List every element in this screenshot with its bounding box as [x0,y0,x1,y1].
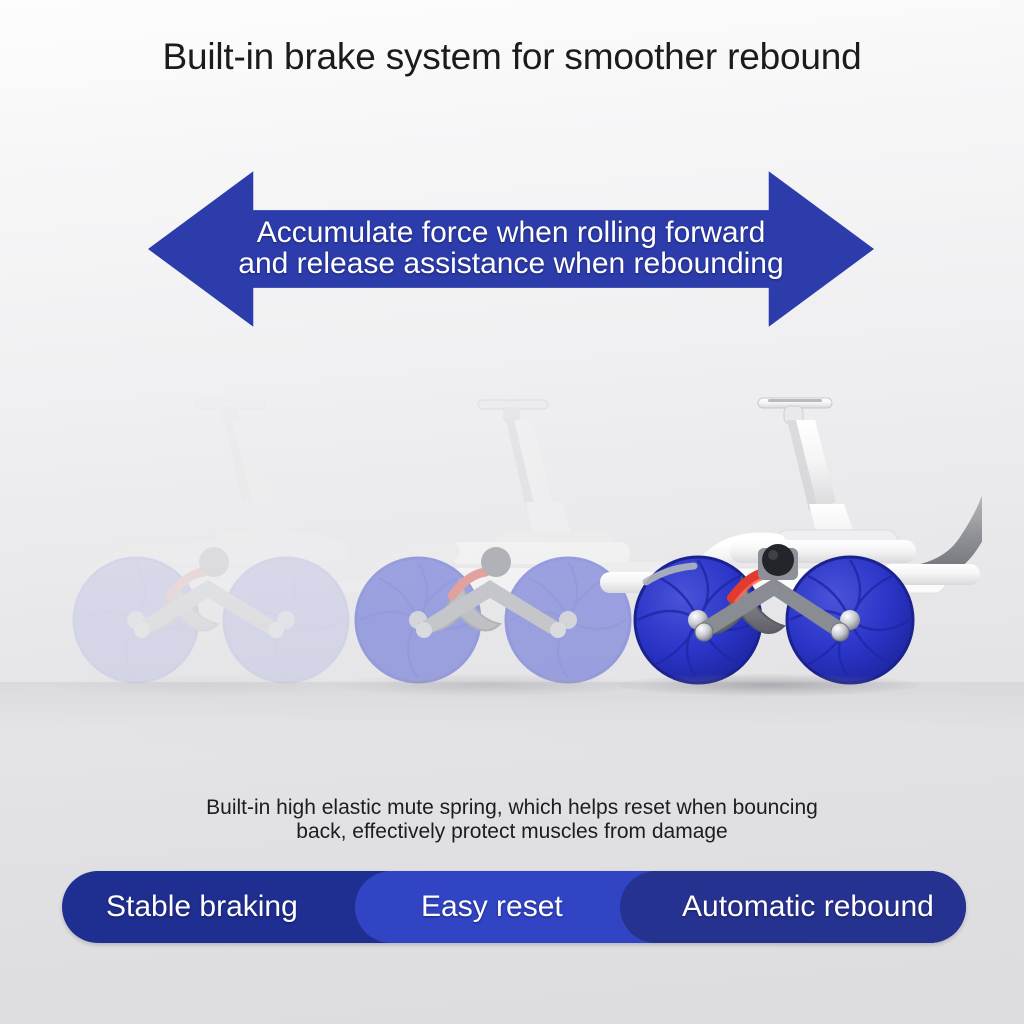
product-infographic: Built-in brake system for smoother rebou… [0,0,1024,1024]
feature-pill-bar: Stable braking Easy reset Automatic rebo… [62,871,966,943]
ground-shadow [618,674,918,696]
product-main [582,382,982,722]
product-scene [0,382,1024,762]
arrow-caption-line-2: and release assistance when rebounding [238,249,783,280]
wheel-right [787,557,913,683]
handle-post [758,398,836,510]
feature-pill-label: Stable braking [106,890,298,924]
feature-pill-label: Automatic rebound [682,890,934,924]
feature-pill-label: Easy reset [421,890,563,924]
arrow-banner: Accumulate force when rolling forward an… [148,168,874,330]
handle-post [478,400,552,508]
ab-roller-illustration [582,382,982,722]
feature-caption-line-2: back, effectively protect muscles from d… [112,820,912,844]
feature-caption-line-1: Built-in high elastic mute spring, which… [112,796,912,820]
wheel-left [74,558,198,682]
arrow-caption: Accumulate force when rolling forward an… [148,168,874,330]
arrow-caption-line-1: Accumulate force when rolling forward [257,218,766,249]
handle-post [196,400,270,508]
page-title: Built-in brake system for smoother rebou… [0,36,1024,78]
wheel-left [356,558,480,682]
feature-pill-automatic-rebound: Automatic rebound [620,871,966,943]
feature-caption: Built-in high elastic mute spring, which… [112,796,912,843]
